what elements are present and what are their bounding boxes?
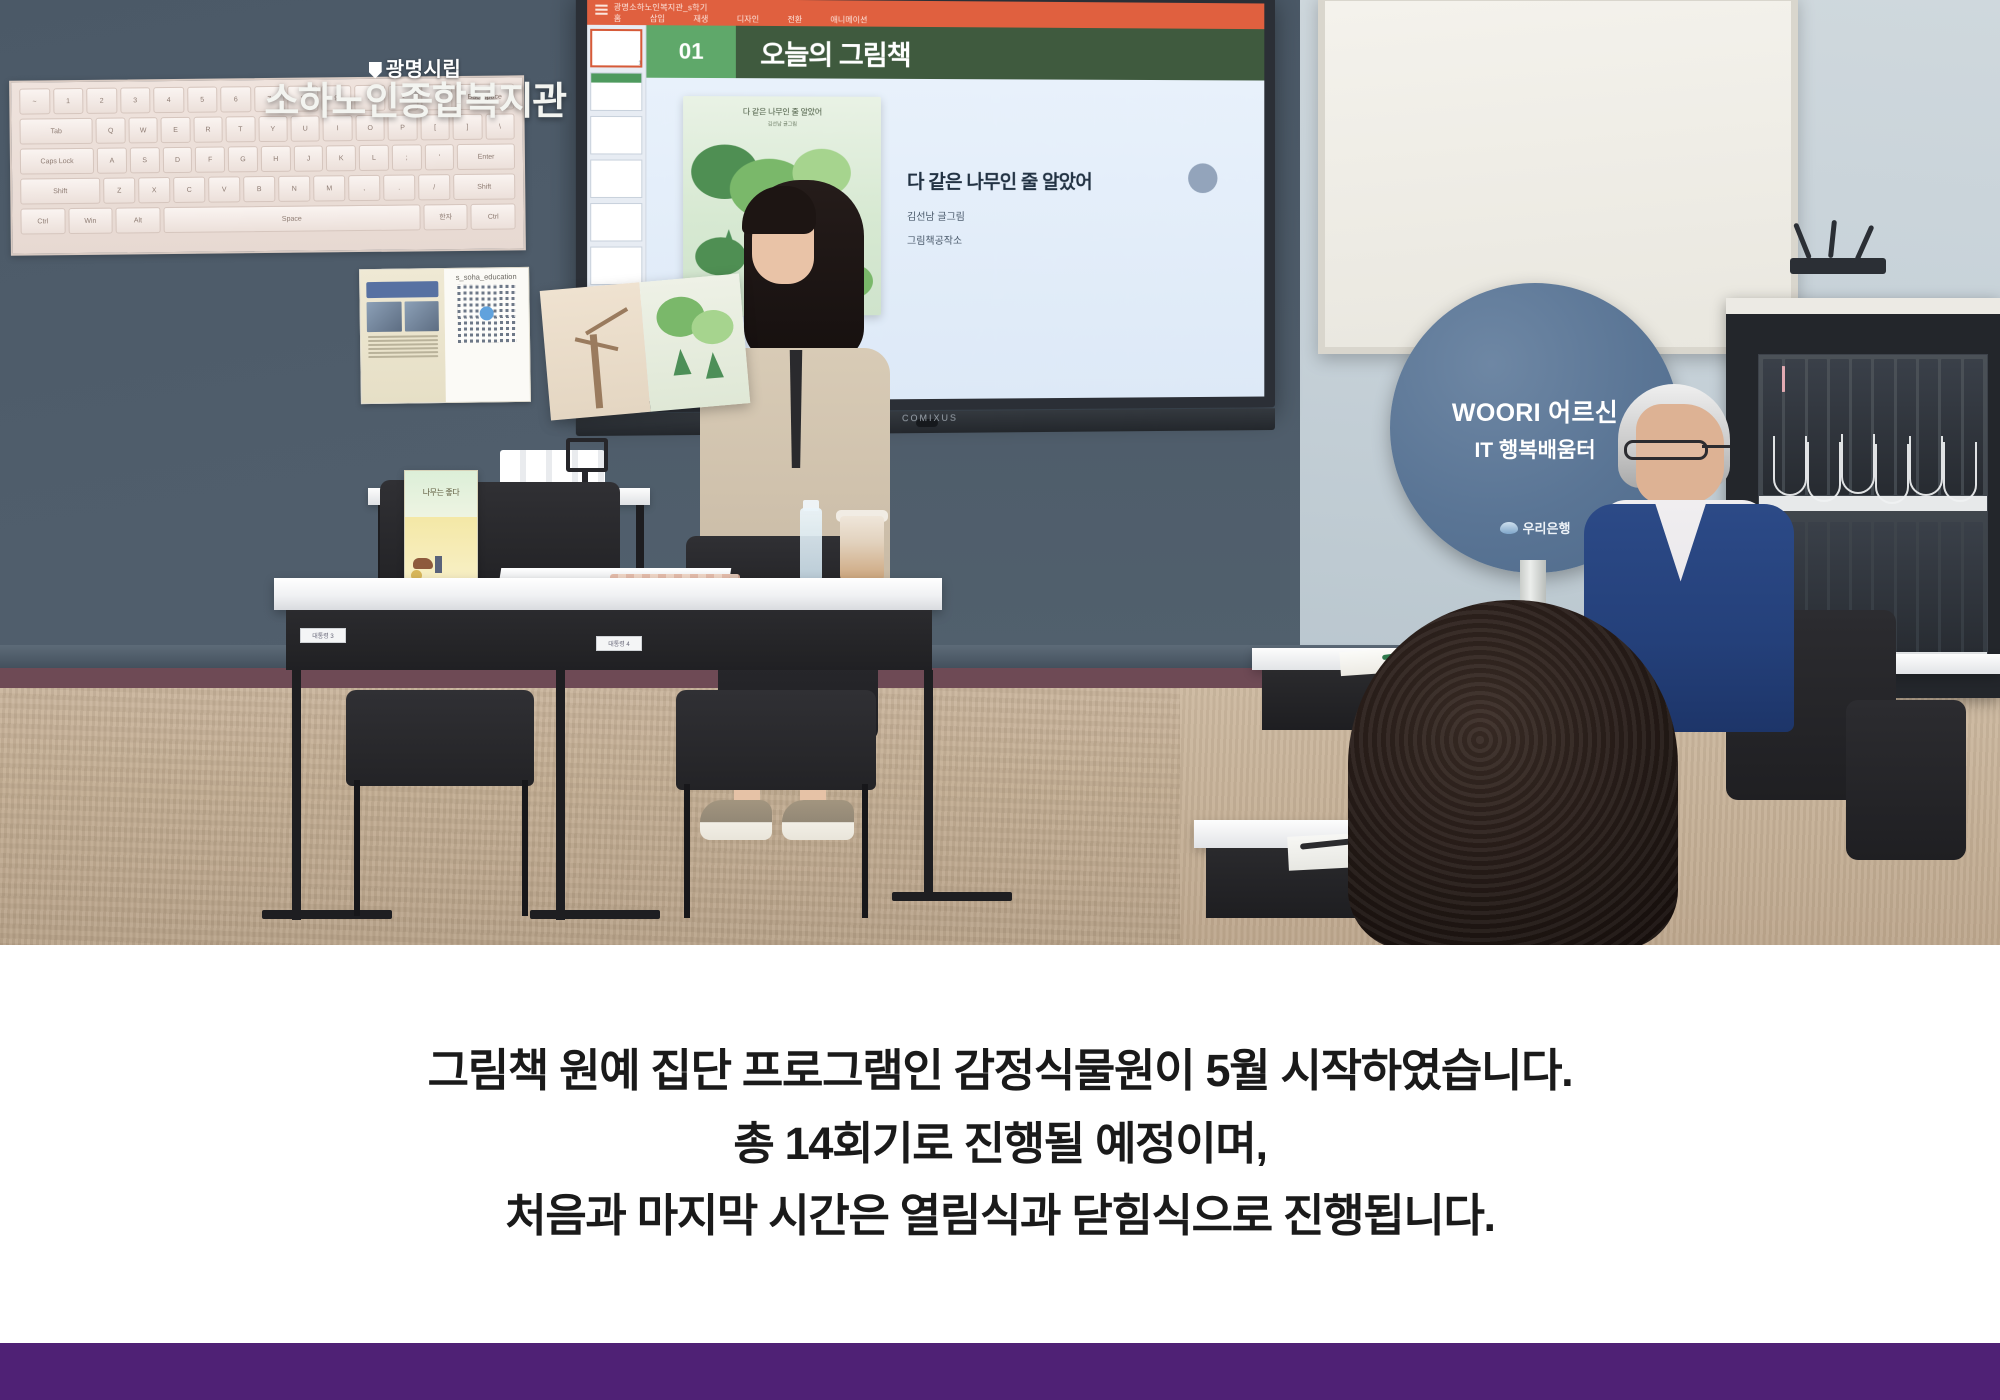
cable xyxy=(1841,434,1875,494)
foreground-participant-hair xyxy=(1348,600,1678,945)
eyeglasses-icon xyxy=(1624,440,1708,460)
poster-text-line xyxy=(368,351,438,354)
kbd-key: X xyxy=(138,177,170,203)
kbd-key: W xyxy=(128,117,158,143)
chair-leg xyxy=(862,784,868,918)
kbd-key: ; xyxy=(392,144,422,170)
presenter-desk xyxy=(274,578,942,610)
kbd-key: 7 xyxy=(254,86,285,112)
poster-title-block xyxy=(366,281,438,298)
kbd-key: 8 xyxy=(287,85,318,111)
chair-leg xyxy=(684,784,690,918)
poster-thumbnails xyxy=(367,301,439,332)
display-brand-label: COMIXUS xyxy=(902,413,958,423)
desk-label: 대통령 4 xyxy=(596,636,642,651)
kbd-key-shift-right: Shift xyxy=(453,173,515,200)
poster-left-panel xyxy=(360,269,446,403)
desk-leg xyxy=(924,670,933,900)
slide-text-block: 다 같은 나무인 줄 알았어 김선남 글그림 그림책공작소 xyxy=(881,79,1264,400)
laptop-slot xyxy=(1941,522,1960,658)
kbd-key: 4 xyxy=(153,87,184,113)
tab-play[interactable]: 재생 xyxy=(693,13,708,24)
kbd-key-ctrl: Ctrl xyxy=(20,208,65,234)
kbd-key-enter: Enter xyxy=(457,143,515,170)
display-book-title: 나무는 좋다 xyxy=(405,487,477,498)
presentation-file-title: 광명소하노인복지관_s학기 xyxy=(614,2,708,14)
cable xyxy=(1909,436,1943,496)
charging-cables xyxy=(1759,430,1987,537)
laptop-slot xyxy=(1919,522,1938,658)
kbd-key: Q xyxy=(96,117,126,143)
chair-backrest xyxy=(676,690,876,790)
poster-account-handle: s_soha_education xyxy=(447,272,525,282)
slide-thumbnail[interactable] xyxy=(590,116,642,155)
tab-home[interactable]: 홈 xyxy=(614,13,622,24)
book-cover-title: 다 같은 나무인 줄 알았어 xyxy=(683,106,881,118)
kbd-key: F xyxy=(195,146,225,172)
kbd-key-backspace: Backspace xyxy=(455,83,514,110)
kbd-key: P xyxy=(388,114,418,140)
kbd-key: S xyxy=(130,147,160,173)
cable xyxy=(1875,444,1909,504)
kbd-key: J xyxy=(293,145,323,171)
child-illustration xyxy=(435,556,442,573)
kbd-key: E xyxy=(161,117,191,143)
kbd-key: B xyxy=(243,176,275,202)
kbd-key-tab: Tab xyxy=(19,118,93,145)
desk-leg xyxy=(556,670,565,920)
tablet-stand xyxy=(566,438,608,472)
kbd-key: U xyxy=(290,115,320,141)
qr-code-icon xyxy=(457,284,516,343)
kbd-key: L xyxy=(359,145,389,171)
kbd-key: ~ xyxy=(19,88,50,114)
kbd-key: 3 xyxy=(120,87,151,113)
desk-label: 대통령 3 xyxy=(300,628,346,643)
caption-line-3: 처음과 마지막 시간은 열림식과 닫힘식으로 진행됩니다. xyxy=(505,1180,1495,1253)
cable xyxy=(1807,442,1841,502)
laptop-slot xyxy=(1964,522,1983,658)
book-cover-credit: 김선남 글그림 xyxy=(683,120,881,128)
woori-bank-name: 우리은행 xyxy=(1523,518,1571,537)
desk-foot xyxy=(892,892,1012,901)
kbd-key: = xyxy=(422,84,453,110)
poster-text-line xyxy=(368,347,438,350)
slide-header: 01 오늘의 그림책 xyxy=(646,25,1264,80)
kbd-key: 9 xyxy=(321,85,352,111)
water-bottle xyxy=(800,508,822,584)
poster-right-panel: s_soha_education xyxy=(444,268,530,402)
footer-bar xyxy=(0,1343,2000,1400)
slide-thumbnail[interactable] xyxy=(590,203,642,241)
held-picture-book xyxy=(540,274,751,421)
kbd-key: V xyxy=(208,176,240,202)
office-chair-backrest-2 xyxy=(1846,700,1966,860)
presentation-tabs: 홈 삽입 재생 디자인 전환 애니메이션 xyxy=(614,13,868,26)
slide-decorative-dot xyxy=(1188,163,1217,193)
slide-thumbnail-number: 1 xyxy=(638,60,641,66)
tab-transition[interactable]: 전환 xyxy=(787,14,802,25)
kbd-key-hanja: 한자 xyxy=(423,204,468,230)
presenter-shoe xyxy=(700,800,772,840)
slide-book-publisher: 그림책공작소 xyxy=(907,232,1264,247)
poster-text-line xyxy=(368,355,438,358)
desk-foot xyxy=(262,910,392,919)
woori-bank-logo: 우리은행 xyxy=(1500,518,1571,537)
student-desk-far xyxy=(1880,654,2000,674)
kbd-key: A xyxy=(97,147,127,173)
kbd-key: [ xyxy=(420,114,450,140)
chair-backrest xyxy=(346,690,534,786)
classroom-photo: ~ 1 2 3 4 5 6 7 8 9 0 - = Backspace Tab … xyxy=(0,0,2000,945)
kbd-key: K xyxy=(326,145,356,171)
presenter-shoe xyxy=(782,800,854,840)
woori-sign-line2: IT 행복배움터 xyxy=(1474,434,1595,464)
kbd-key: N xyxy=(278,176,310,202)
kbd-key-caps: Caps Lock xyxy=(20,148,94,175)
display-book: 나무는 좋다 xyxy=(404,470,478,585)
tab-insert[interactable]: 삽입 xyxy=(650,13,665,24)
kbd-key: T xyxy=(226,116,256,142)
kbd-key-shift: Shift xyxy=(20,178,100,205)
tree-branch-shape xyxy=(585,307,628,335)
kbd-key: ' xyxy=(424,144,454,170)
hamburger-icon[interactable] xyxy=(595,5,607,15)
poster-text-line xyxy=(368,335,438,338)
kbd-key: , xyxy=(348,175,380,201)
slide-thumbnail[interactable] xyxy=(590,72,642,111)
poster-text-line xyxy=(368,343,438,346)
caption-block: 그림책 원예 집단 프로그램인 감정식물원이 5월 시작하였습니다. 총 14회… xyxy=(0,945,2000,1343)
chair-leg xyxy=(354,780,360,916)
kbd-key: M xyxy=(313,175,345,201)
kbd-key: 1 xyxy=(53,88,84,114)
eyeglasses-arm xyxy=(1702,445,1730,448)
woori-bank-icon xyxy=(1500,522,1518,534)
slide-thumbnail[interactable] xyxy=(590,159,642,197)
kbd-key: Y xyxy=(258,116,288,142)
kbd-key: 2 xyxy=(86,88,117,114)
kbd-key: O xyxy=(355,115,385,141)
education-qr-poster: s_soha_education xyxy=(359,267,531,404)
kbd-key-win: Win xyxy=(68,208,113,234)
tab-animation[interactable]: 애니메이션 xyxy=(830,14,867,25)
slide-thumbnail[interactable] xyxy=(590,246,642,285)
kbd-key: G xyxy=(228,146,258,172)
cable xyxy=(1943,442,1977,502)
picture-book-page-left xyxy=(540,282,651,420)
display-book-top: 나무는 좋다 xyxy=(405,471,477,517)
kbd-key: 0 xyxy=(354,85,385,111)
kbd-key: D xyxy=(162,147,192,173)
desk-foot xyxy=(530,910,660,919)
dog-illustration xyxy=(413,558,433,569)
wifi-router xyxy=(1790,258,1886,274)
slide-number-badge: 01 xyxy=(646,25,735,78)
woori-sign-line1: WOORI 어르신 xyxy=(1452,393,1618,429)
tree-shape xyxy=(695,237,746,275)
kbd-key-alt: Alt xyxy=(116,207,161,233)
tab-design[interactable]: 디자인 xyxy=(737,14,759,25)
keyboard-chart-poster: ~ 1 2 3 4 5 6 7 8 9 0 - = Backspace Tab … xyxy=(9,75,526,255)
kbd-key: 6 xyxy=(220,86,251,112)
kbd-key: R xyxy=(193,116,223,142)
picture-book-page-right xyxy=(639,274,750,412)
display-book-bottom xyxy=(405,517,477,585)
pine-tree-shape xyxy=(671,348,691,375)
poster-thumbnail xyxy=(367,302,402,332)
pine-tree-shape xyxy=(704,351,724,378)
kbd-key: ] xyxy=(453,114,483,140)
caption-line-2: 총 14회기로 진행될 예정이며, xyxy=(733,1108,1266,1181)
kbd-key: / xyxy=(418,174,450,200)
kbd-key: . xyxy=(383,174,415,200)
kbd-key: I xyxy=(323,115,353,141)
desk-leg xyxy=(292,670,301,920)
caption-line-1: 그림책 원예 집단 프로그램인 감정식물원이 5월 시작하였습니다. xyxy=(428,1035,1573,1108)
poster-text-lines xyxy=(368,335,438,358)
kbd-key: H xyxy=(261,146,291,172)
page-root: ~ 1 2 3 4 5 6 7 8 9 0 - = Backspace Tab … xyxy=(0,0,2000,1400)
kbd-key: C xyxy=(173,177,205,203)
kbd-key: - xyxy=(388,84,419,110)
coffee-cup xyxy=(840,516,884,584)
poster-text-line xyxy=(368,339,438,342)
kbd-key: Z xyxy=(103,177,135,203)
kbd-key: 5 xyxy=(187,87,218,113)
slide-heading: 오늘의 그림책 xyxy=(736,32,911,72)
slide-book-author: 김선남 글그림 xyxy=(907,208,1264,223)
kbd-key-space: Space xyxy=(163,204,421,233)
laptop-slot xyxy=(1897,522,1916,658)
chair-leg xyxy=(522,780,528,916)
poster-thumbnail xyxy=(404,301,439,331)
cable xyxy=(1773,436,1807,496)
kbd-key: \ xyxy=(485,113,515,139)
slide-thumbnail[interactable]: 1 xyxy=(590,29,642,68)
kbd-key-ctrl-right: Ctrl xyxy=(471,203,516,229)
